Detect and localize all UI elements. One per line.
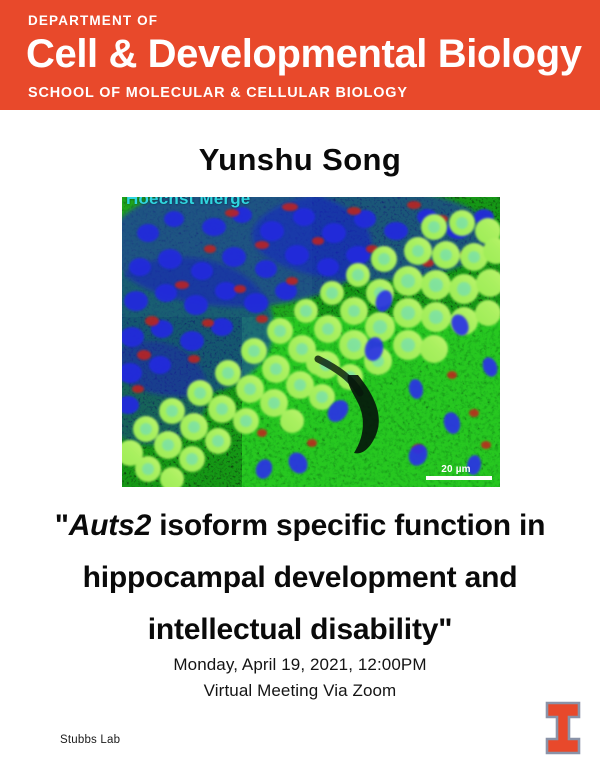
department-eyebrow: DEPARTMENT OF xyxy=(28,14,158,28)
talk-title-line-3: intellectual disability" xyxy=(0,604,600,656)
speaker-name: Yunshu Song xyxy=(0,143,600,177)
talk-title-line-2: hippocampal development and xyxy=(0,552,600,604)
event-location: Virtual Meeting Via Zoom xyxy=(0,678,600,704)
fluorescence-micrograph-image xyxy=(122,197,500,487)
talk-title-line-1: "Auts2 isoform specific function in xyxy=(0,500,600,552)
talk-title: "Auts2 isoform specific function in hipp… xyxy=(0,500,600,656)
microscopy-figure: Hoechst Merge 20 µm xyxy=(122,197,500,487)
department-title: Cell & Developmental Biology xyxy=(26,33,582,76)
lab-credit: Stubbs Lab xyxy=(60,735,120,747)
event-details: Monday, April 19, 2021, 12:00PM Virtual … xyxy=(0,652,600,704)
figure-channel-overlay-label: Hoechst Merge xyxy=(126,197,250,207)
talk-title-open-quote: " xyxy=(55,509,69,542)
scale-bar-label: 20 µm xyxy=(420,464,492,476)
block-i-icon xyxy=(543,700,583,756)
department-header-band: DEPARTMENT OF Cell & Developmental Biolo… xyxy=(0,0,600,110)
scale-bar: 20 µm xyxy=(420,464,492,481)
talk-title-line-1-rest: isoform specific function in xyxy=(151,509,545,542)
talk-title-gene-name: Auts2 xyxy=(69,509,151,542)
event-datetime: Monday, April 19, 2021, 12:00PM xyxy=(0,652,600,678)
illinois-block-i-logo xyxy=(543,700,583,756)
department-school-line: SCHOOL OF MOLECULAR & CELLULAR BIOLOGY xyxy=(28,86,408,100)
scale-bar-rule xyxy=(426,476,492,480)
